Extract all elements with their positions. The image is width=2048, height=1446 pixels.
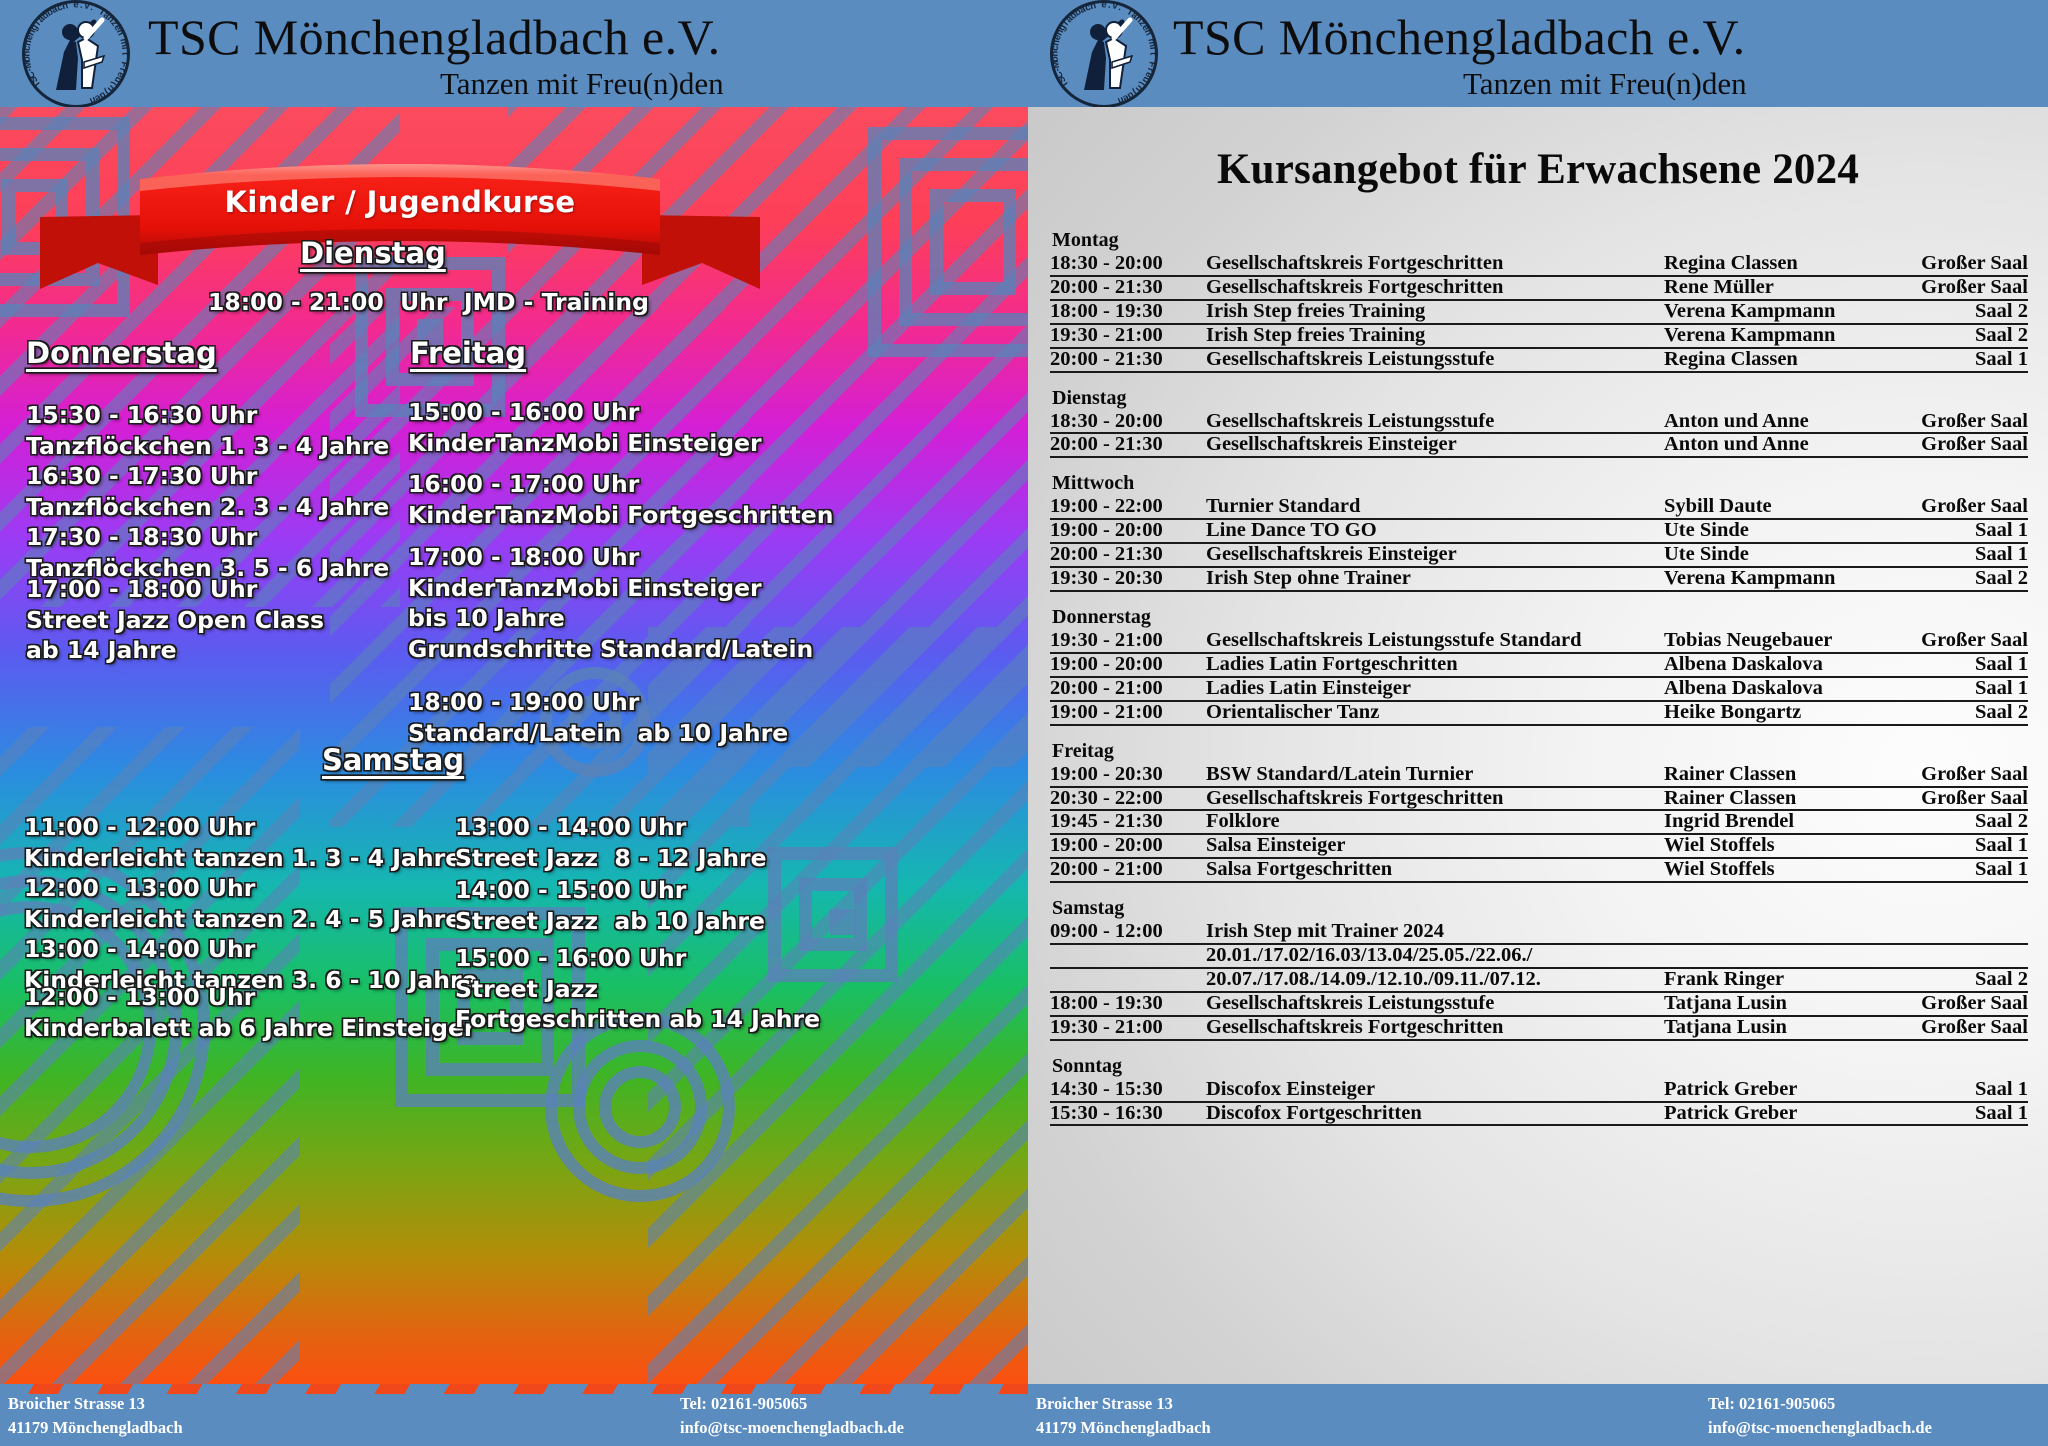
kids-samstag-left-group1: 11:00 - 12:00 Uhr Kinderleicht tanzen 1.… (24, 812, 478, 995)
row-course: Gesellschaftskreis Leistungsstufe (1200, 993, 1664, 1014)
row-course: 20.07./17.08./14.09./12.10./09.11./07.12… (1200, 969, 1664, 990)
row-room: Saal 1 (1904, 859, 2028, 880)
row-course: Gesellschaftskreis Fortgeschritten (1200, 253, 1664, 274)
row-room: Saal 2 (1904, 325, 2028, 346)
row-trainer: Frank Ringer (1664, 969, 1904, 990)
kids-courses-body: Kinder / Jugendkurse Dienstag 18:00 - 21… (0, 107, 1028, 1384)
row-trainer: Verena Kampmann (1664, 325, 1904, 346)
row-course: Salsa Einsteiger (1200, 835, 1664, 856)
row-trainer: Regina Classen (1664, 253, 1904, 274)
row-room: Großer Saal (1904, 630, 2028, 651)
schedule-day-block: Sonntag14:30 - 15:30Discofox EinsteigerP… (1050, 1055, 2028, 1127)
adult-courses-body: Kursangebot für Erwachsene 2024 Montag18… (1028, 107, 2048, 1384)
right-footer: Broicher Strasse 13 41179 Mönchengladbac… (1028, 1384, 2048, 1446)
schedule-row: 20:00 - 21:00Ladies Latin EinsteigerAlbe… (1050, 678, 2028, 702)
row-time: 19:30 - 21:00 (1050, 325, 1200, 346)
schedule-row: 20:00 - 21:30Gesellschaftskreis Einsteig… (1050, 434, 2028, 458)
kids-day-freitag: Freitag (410, 335, 526, 373)
row-room: Saal 1 (1904, 1103, 2028, 1124)
kids-freitag-group3: 17:00 - 18:00 Uhr KinderTanzMobi Einstei… (408, 542, 813, 664)
schedule-row: 20:30 - 22:00Gesellschaftskreis Fortgesc… (1050, 788, 2028, 812)
row-room: Großer Saal (1904, 496, 2028, 517)
kids-freitag-group4: 18:00 - 19:00 Uhr Standard/Latein ab 10 … (408, 687, 788, 748)
schedule-day-block: Montag18:30 - 20:00Gesellschaftskreis Fo… (1050, 229, 2028, 373)
row-trainer: Ingrid Brendel (1664, 811, 1904, 832)
row-time: 19:30 - 21:00 (1050, 630, 1200, 651)
row-trainer: Albena Daskalova (1664, 654, 1904, 675)
row-time: 18:30 - 20:00 (1050, 411, 1200, 432)
row-course: Gesellschaftskreis Einsteiger (1200, 434, 1664, 455)
schedule-row: 19:00 - 20:00Ladies Latin Fortgeschritte… (1050, 654, 2028, 678)
footer-street: Broicher Strasse 13 (8, 1392, 183, 1416)
row-trainer: Heike Bongartz (1664, 702, 1904, 723)
club-logo: TSC-Mönchengladbach e.V. Tanzen mit Freu… (14, 0, 138, 107)
row-time: 15:30 - 16:30 (1050, 1103, 1200, 1124)
row-time: 19:00 - 20:00 (1050, 520, 1200, 541)
row-course: Gesellschaftskreis Einsteiger (1200, 544, 1664, 565)
row-trainer: Regina Classen (1664, 349, 1904, 370)
row-time: 20:00 - 21:30 (1050, 349, 1200, 370)
row-course: 20.01./17.02/16.03/13.04/25.05./22.06./ (1200, 945, 1664, 966)
row-trainer: Ute Sinde (1664, 520, 1904, 541)
schedule-row: 20.07./17.08./14.09./12.10./09.11./07.12… (1050, 969, 2028, 993)
row-course: Ladies Latin Einsteiger (1200, 678, 1664, 699)
row-time: 19:30 - 21:00 (1050, 1017, 1200, 1038)
row-time: 19:30 - 20:30 (1050, 568, 1200, 589)
row-room: Großer Saal (1904, 411, 2028, 432)
row-course: Irish Step ohne Trainer (1200, 568, 1664, 589)
schedule-row: 20:00 - 21:30Gesellschaftskreis Leistung… (1050, 349, 2028, 373)
row-room: Saal 2 (1904, 811, 2028, 832)
row-trainer: Tobias Neugebauer (1664, 630, 1904, 651)
schedule-row: 19:45 - 21:30FolkloreIngrid BrendelSaal … (1050, 811, 2028, 835)
row-room: Großer Saal (1904, 434, 2028, 455)
schedule-day-block: Mittwoch19:00 - 22:00Turnier StandardSyb… (1050, 472, 2028, 592)
row-course: Line Dance TO GO (1200, 520, 1664, 541)
row-room: Saal 1 (1904, 678, 2028, 699)
schedule-row: 14:30 - 15:30Discofox EinsteigerPatrick … (1050, 1079, 2028, 1103)
row-trainer: Wiel Stoffels (1664, 835, 1904, 856)
schedule-row: 19:00 - 22:00Turnier StandardSybill Daut… (1050, 496, 2028, 520)
row-course: Turnier Standard (1200, 496, 1664, 517)
kids-donnerstag-group1: 15:30 - 16:30 Uhr Tanzflöckchen 1. 3 - 4… (26, 400, 389, 583)
footer-phone: Tel: 02161-905065 (680, 1392, 904, 1416)
schedule-row: 19:30 - 21:00Gesellschaftskreis Fortgesc… (1050, 1017, 2028, 1041)
schedule-day-block: Samstag09:00 - 12:00Irish Step mit Train… (1050, 897, 2028, 1041)
kids-donnerstag-group2: 17:00 - 18:00 Uhr Street Jazz Open Class… (26, 574, 324, 666)
row-trainer: Tatjana Lusin (1664, 993, 1904, 1014)
row-time: 14:30 - 15:30 (1050, 1079, 1200, 1100)
schedule-day-name: Donnerstag (1050, 606, 2028, 629)
row-trainer: Sybill Daute (1664, 496, 1904, 517)
schedule-day-name: Freitag (1050, 740, 2028, 763)
row-course: Gesellschaftskreis Fortgeschritten (1200, 788, 1664, 809)
row-course: Gesellschaftskreis Fortgeschritten (1200, 1017, 1664, 1038)
schedule-day-name: Montag (1050, 229, 2028, 252)
row-room: Saal 1 (1904, 349, 2028, 370)
row-course: Discofox Einsteiger (1200, 1079, 1664, 1100)
adult-courses-panel: TSC-Mönchengladbach e.V. Tanzen mit Freu… (1028, 0, 2048, 1446)
row-trainer: Rainer Classen (1664, 788, 1904, 809)
schedule-day-name: Sonntag (1050, 1055, 2028, 1078)
row-time: 20:00 - 21:30 (1050, 544, 1200, 565)
row-trainer: Verena Kampmann (1664, 301, 1904, 322)
footer-phone: Tel: 02161-905065 (1708, 1392, 1932, 1416)
schedule-row: 18:00 - 19:30Irish Step freies TrainingV… (1050, 301, 2028, 325)
footer-email[interactable]: info@tsc-moenchengladbach.de (680, 1416, 904, 1440)
row-time: 18:00 - 19:30 (1050, 993, 1200, 1014)
row-course: Ladies Latin Fortgeschritten (1200, 654, 1664, 675)
row-time: 20:00 - 21:30 (1050, 277, 1200, 298)
row-course: Gesellschaftskreis Fortgeschritten (1200, 277, 1664, 298)
row-course: Gesellschaftskreis Leistungsstufe (1200, 349, 1664, 370)
row-trainer: Rene Müller (1664, 277, 1904, 298)
decorative-circle-icon (545, 1012, 735, 1202)
row-time: 20:30 - 22:00 (1050, 788, 1200, 809)
schedule-row: 19:00 - 20:00Line Dance TO GOUte SindeSa… (1050, 520, 2028, 544)
schedule-row: 19:30 - 21:00Gesellschaftskreis Leistung… (1050, 630, 2028, 654)
schedule-row: 20.01./17.02/16.03/13.04/25.05./22.06./ (1050, 945, 2028, 969)
row-room: Saal 2 (1904, 568, 2028, 589)
row-room: Saal 1 (1904, 654, 2028, 675)
row-time: 20:00 - 21:00 (1050, 678, 1200, 699)
row-course: Gesellschaftskreis Leistungsstufe Standa… (1200, 630, 1664, 651)
row-room: Großer Saal (1904, 1017, 2028, 1038)
kids-freitag-group1: 15:00 - 16:00 Uhr KinderTanzMobi Einstei… (408, 397, 762, 458)
row-trainer: Anton und Anne (1664, 411, 1904, 432)
row-time: 19:45 - 21:30 (1050, 811, 1200, 832)
row-time: 18:30 - 20:00 (1050, 253, 1200, 274)
row-trainer: Tatjana Lusin (1664, 1017, 1904, 1038)
row-time: 20:00 - 21:30 (1050, 434, 1200, 455)
kids-day-donnerstag: Donnerstag (26, 335, 217, 373)
page-title: Kursangebot für Erwachsene 2024 (1028, 145, 2048, 194)
footer-email[interactable]: info@tsc-moenchengladbach.de (1708, 1416, 1932, 1440)
schedule-day-name: Mittwoch (1050, 472, 2028, 495)
schedule-day-block: Freitag19:00 - 20:30BSW Standard/Latein … (1050, 740, 2028, 884)
row-room: Saal 1 (1904, 520, 2028, 541)
row-trainer: Albena Daskalova (1664, 678, 1904, 699)
row-room: Großer Saal (1904, 993, 2028, 1014)
kids-day-dienstag: Dienstag (300, 235, 446, 273)
kids-samstag-right-group2: 14:00 - 15:00 Uhr Street Jazz ab 10 Jahr… (455, 875, 765, 936)
row-trainer: Verena Kampmann (1664, 568, 1904, 589)
right-header-band: TSC-Mönchengladbach e.V. Tanzen mit Freu… (1028, 0, 2048, 107)
schedule-day-name: Samstag (1050, 897, 2028, 920)
schedule-row: 19:00 - 20:00Salsa EinsteigerWiel Stoffe… (1050, 835, 2028, 859)
club-logo: TSC-Mönchengladbach e.V. Tanzen mit Freu… (1042, 0, 1166, 107)
schedule-row: 19:30 - 20:30Irish Step ohne TrainerVere… (1050, 568, 2028, 592)
schedule-row: 09:00 - 12:00Irish Step mit Trainer 2024 (1050, 921, 2028, 945)
schedule-day-name: Dienstag (1050, 387, 2028, 410)
footer-city: 41179 Mönchengladbach (8, 1416, 183, 1440)
row-course: Gesellschaftskreis Leistungsstufe (1200, 411, 1664, 432)
schedule-row: 20:00 - 21:00Salsa FortgeschrittenWiel S… (1050, 859, 2028, 883)
row-room: Saal 2 (1904, 301, 2028, 322)
left-footer: Broicher Strasse 13 41179 Mönchengladbac… (0, 1384, 1028, 1446)
club-name-title: TSC Mönchengladbach e.V. (148, 8, 720, 66)
kids-samstag-right-group3: 15:00 - 16:00 Uhr Street Jazz Fortgeschr… (455, 943, 820, 1035)
club-slogan: Tanzen mit Freu(n)den (440, 66, 724, 102)
row-trainer: Wiel Stoffels (1664, 859, 1904, 880)
kids-samstag-left-group2: 12:00 - 13:00 Uhr Kinderbalett ab 6 Jahr… (24, 982, 476, 1043)
row-course: Irish Step freies Training (1200, 301, 1664, 322)
row-trainer: Ute Sinde (1664, 544, 1904, 565)
row-room: Großer Saal (1904, 277, 2028, 298)
row-room: Großer Saal (1904, 253, 2028, 274)
row-room: Großer Saal (1904, 788, 2028, 809)
schedule-day-block: Donnerstag19:30 - 21:00Gesellschaftskrei… (1050, 606, 2028, 726)
schedule-row: 20:00 - 21:30Gesellschaftskreis Fortgesc… (1050, 277, 2028, 301)
row-time: 09:00 - 12:00 (1050, 921, 1200, 942)
schedule-row: 19:00 - 20:30BSW Standard/Latein Turnier… (1050, 764, 2028, 788)
decorative-square-icon (868, 127, 1028, 357)
schedule-row: 19:30 - 21:00Irish Step freies TrainingV… (1050, 325, 2028, 349)
row-course: Orientalischer Tanz (1200, 702, 1664, 723)
schedule-row: 20:00 - 21:30Gesellschaftskreis Einsteig… (1050, 544, 2028, 568)
left-header-band: TSC-Mönchengladbach e.V. Tanzen mit Freu… (0, 0, 1028, 107)
row-trainer: Anton und Anne (1664, 434, 1904, 455)
schedule-row: 18:00 - 19:30Gesellschaftskreis Leistung… (1050, 993, 2028, 1017)
row-time: 19:00 - 20:00 (1050, 654, 1200, 675)
row-time: 19:00 - 20:00 (1050, 835, 1200, 856)
kids-courses-panel: TSC-Mönchengladbach e.V. Tanzen mit Freu… (0, 0, 1028, 1446)
row-room: Großer Saal (1904, 764, 2028, 785)
row-room: Saal 2 (1904, 702, 2028, 723)
ribbon-label: Kinder / Jugendkurse (40, 185, 760, 219)
row-room: Saal 1 (1904, 835, 2028, 856)
row-trainer: Patrick Greber (1664, 1103, 1904, 1124)
schedule-row: 18:30 - 20:00Gesellschaftskreis Leistung… (1050, 411, 2028, 435)
row-course: Folklore (1200, 811, 1664, 832)
row-time: 19:00 - 20:30 (1050, 764, 1200, 785)
row-room: Saal 1 (1904, 1079, 2028, 1100)
row-course: Irish Step mit Trainer 2024 (1200, 921, 1664, 942)
row-course: Discofox Fortgeschritten (1200, 1103, 1664, 1124)
dancing-couple-icon (42, 12, 108, 96)
row-time: 20:00 - 21:00 (1050, 859, 1200, 880)
schedule-row: 15:30 - 16:30Discofox FortgeschrittenPat… (1050, 1103, 2028, 1127)
footer-street: Broicher Strasse 13 (1036, 1392, 1211, 1416)
footer-city: 41179 Mönchengladbach (1036, 1416, 1211, 1440)
schedule-day-block: Dienstag18:30 - 20:00Gesellschaftskreis … (1050, 387, 2028, 459)
kids-dienstag-line: 18:00 - 21:00 Uhr JMD - Training (208, 287, 649, 318)
club-name-title: TSC Mönchengladbach e.V. (1173, 8, 1745, 66)
row-course: Irish Step freies Training (1200, 325, 1664, 346)
row-time: 18:00 - 19:30 (1050, 301, 1200, 322)
schedule-row: 18:30 - 20:00Gesellschaftskreis Fortgesc… (1050, 253, 2028, 277)
row-room: Saal 2 (1904, 969, 2028, 990)
adult-schedule-table: Montag18:30 - 20:00Gesellschaftskreis Fo… (1050, 229, 2028, 1140)
row-time: 19:00 - 22:00 (1050, 496, 1200, 517)
kids-samstag-right-group1: 13:00 - 14:00 Uhr Street Jazz 8 - 12 Jah… (455, 812, 767, 873)
kids-freitag-group2: 16:00 - 17:00 Uhr KinderTanzMobi Fortges… (408, 469, 833, 530)
dancing-couple-icon (1070, 12, 1136, 96)
club-slogan: Tanzen mit Freu(n)den (1463, 66, 1747, 102)
row-trainer: Patrick Greber (1664, 1079, 1904, 1100)
row-course: Salsa Fortgeschritten (1200, 859, 1664, 880)
row-time: 19:00 - 21:00 (1050, 702, 1200, 723)
schedule-row: 19:00 - 21:00Orientalischer TanzHeike Bo… (1050, 702, 2028, 726)
row-course: BSW Standard/Latein Turnier (1200, 764, 1664, 785)
row-room: Saal 1 (1904, 544, 2028, 565)
kids-day-samstag: Samstag (322, 742, 464, 780)
row-trainer: Rainer Classen (1664, 764, 1904, 785)
flyer-page: TSC-Mönchengladbach e.V. Tanzen mit Freu… (0, 0, 2048, 1446)
